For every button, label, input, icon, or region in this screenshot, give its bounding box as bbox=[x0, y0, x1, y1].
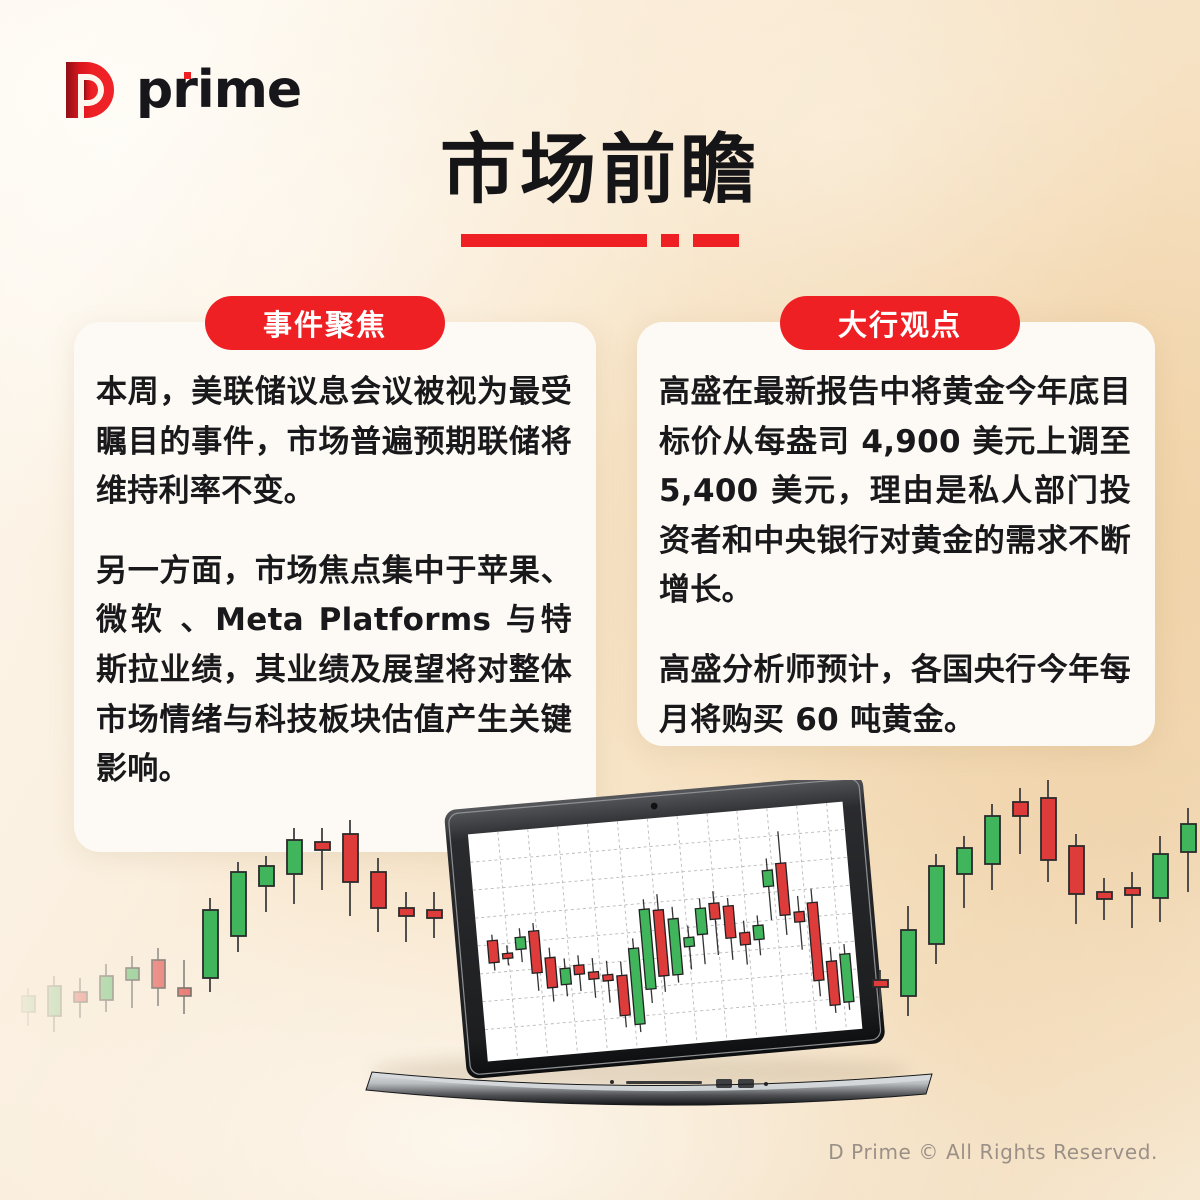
footer-copyright: D Prime © All Rights Reserved. bbox=[828, 1140, 1158, 1164]
page-title-block: 市场前瞻 bbox=[0, 128, 1200, 247]
title-underline-bar-long bbox=[461, 234, 647, 247]
paragraph: 高盛在最新报告中将黄金今年底目标价从每盎司 4,900 美元上调至 5,400 … bbox=[659, 368, 1131, 616]
card-badge-bank-views: 大行观点 bbox=[780, 296, 1020, 350]
paragraph: 另一方面，市场焦点集中于苹果、微软 、Meta Platforms 与特斯拉业绩… bbox=[96, 547, 572, 795]
content-cards: 事件聚焦 本周，美联储议息会议被视为最受瞩目的事件，市场普遍预期联储将维持利率不… bbox=[0, 322, 1200, 862]
page-title: 市场前瞻 bbox=[0, 128, 1200, 212]
card-bank-views: 大行观点 高盛在最新报告中将黄金今年底目标价从每盎司 4,900 美元上调至 5… bbox=[637, 322, 1155, 746]
logo-wordmark: prime bbox=[136, 64, 301, 116]
card-body-bank-views: 高盛在最新报告中将黄金今年底目标价从每盎司 4,900 美元上调至 5,400 … bbox=[637, 368, 1155, 745]
logo-i-dot-icon bbox=[184, 72, 191, 79]
laptop-base bbox=[366, 1072, 932, 1105]
brand-logo: prime bbox=[58, 58, 301, 122]
paragraph: 本周，美联储议息会议被视为最受瞩目的事件，市场普遍预期联储将维持利率不变。 bbox=[96, 368, 572, 517]
paragraph: 高盛分析师预计，各国央行今年每月将购买 60 吨黄金。 bbox=[659, 646, 1131, 745]
card-event-focus: 事件聚焦 本周，美联储议息会议被视为最受瞩目的事件，市场普遍预期联储将维持利率不… bbox=[74, 322, 596, 852]
logo-wordmark-text: prime bbox=[136, 60, 301, 120]
poster-canvas: prime 市场前瞻 事件聚焦 本周，美联储议息会议被视为最受瞩目的事件，市场普… bbox=[0, 0, 1200, 1200]
title-underline-dot bbox=[661, 234, 679, 247]
title-underline-bar-short bbox=[693, 234, 739, 247]
card-body-event-focus: 本周，美联储议息会议被视为最受瞩目的事件，市场普遍预期联储将维持利率不变。 另一… bbox=[74, 368, 596, 795]
d-prime-logo-icon bbox=[58, 58, 122, 122]
title-underline bbox=[0, 234, 1200, 247]
card-badge-event-focus: 事件聚焦 bbox=[205, 296, 445, 350]
background-candles-left bbox=[22, 948, 191, 1032]
